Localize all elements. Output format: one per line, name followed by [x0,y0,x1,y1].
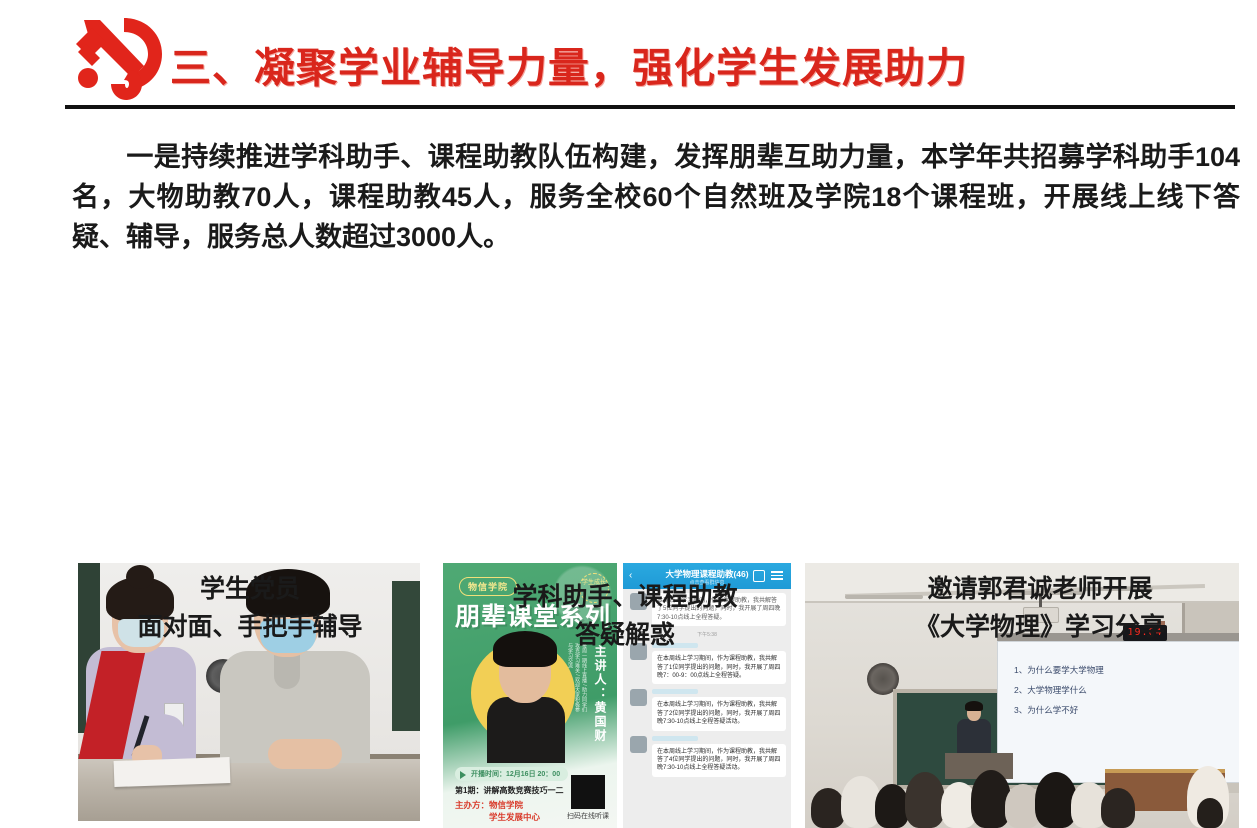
poster-portrait-body [487,697,565,763]
poster-episode-line: 第1期：讲解高数竞赛技巧一二 [455,785,563,796]
poster-qr-code [571,775,605,809]
slide-header: 三、凝聚学业辅导力量，强化学生发展助力 [0,0,1257,110]
slide-root: 三、凝聚学业辅导力量，强化学生发展助力 一是持续推进学科助手、课程助教队伍构建，… [0,0,1257,697]
paragraph-text: 一是持续推进学科助手、课程助教队伍构建，发挥朋辈互助力量，本学年共招募学科助手1… [72,142,1240,252]
header-divider [65,105,1235,109]
caption-line-1: 邀请郭君诚老师开展 [845,570,1235,608]
caption-line-2: 《大学物理》学习分享 [845,608,1235,646]
projector-slide-line-2: 2、大学物理学什么 [1014,684,1087,696]
caption-line-1: 学生党员 [60,570,440,608]
ccp-party-emblem-icon [66,14,170,102]
poster-qr-caption: 扫码在线听课 [567,811,609,821]
caption-photo-1: 学生党员 面对面、手把手辅导 [60,570,440,646]
photo1-boy-hands [268,739,342,769]
poster-broadcast-time: 开播时间：12月16日 20：00 [455,767,568,781]
body-paragraph: 一是持续推进学科助手、课程助教队伍构建，发挥朋辈互助力量，本学年共招募学科助手1… [72,137,1240,257]
avatar [630,736,647,753]
chat-bubble-text: 在本周线上学习期间，作为课程助教，我共解答了4位同学提出的问题，同时，我开展了周… [652,744,786,777]
caption-line-1: 学科助手、课程助教 [455,578,795,616]
caption-line-2: 答疑解惑 [455,616,795,654]
media-row: 物信学院 学生成长 朋辈课堂系列 每周一期线上直播 / 助力同学们攻克学习难关 … [0,280,1257,555]
chat-message: 在本周线上学习期间，作为课程助教，我共解答了4位同学提出的问题，同时，我开展了周… [652,736,786,777]
page-title: 三、凝聚学业辅导力量，强化学生发展助力 [170,34,968,94]
avatar [630,689,647,706]
photo1-papers [114,757,231,787]
caption-photo-3: 邀请郭君诚老师开展 《大学物理》学习分享 [845,570,1235,646]
poster-organizer-secondary: 学生发展中心 [489,811,540,823]
chat-bubble-text: 在本周线上学习期间，作为课程助教，我共解答了2位同学提出的问题，同时，我开展了周… [652,697,786,730]
projector-slide-line-1: 1、为什么要学大学物理 [1014,664,1104,676]
projector-slide-line-3: 3、为什么学不好 [1014,704,1078,716]
poster-speaker-label: 主讲人：黄国财 [592,645,609,743]
caption-photo-2: 学科助手、课程助教 答疑解惑 [455,578,795,654]
poster-organizer: 主办方：物信学院 [455,799,523,811]
chat-sender-name [652,689,698,694]
poster-side-note: 每周一期线上直播 / 助力同学们攻克学习难关 / 欢迎大家积极参与学习交流 [566,643,587,717]
chat-message: 在本周线上学习期间，作为课程助教，我共解答了2位同学提出的问题，同时，我开展了周… [652,689,786,730]
photo1-boy-collar [274,655,300,689]
chat-sender-name [652,736,698,741]
photo3-student-audience [805,736,1239,828]
caption-line-2: 面对面、手把手辅导 [60,608,440,646]
chat-bubble-text: 在本周线上学习期间，作为课程助教，我共解答了1位同学提出的问题，同时，我开展了周… [652,651,786,684]
photo3-lecturer-hair [965,701,983,711]
